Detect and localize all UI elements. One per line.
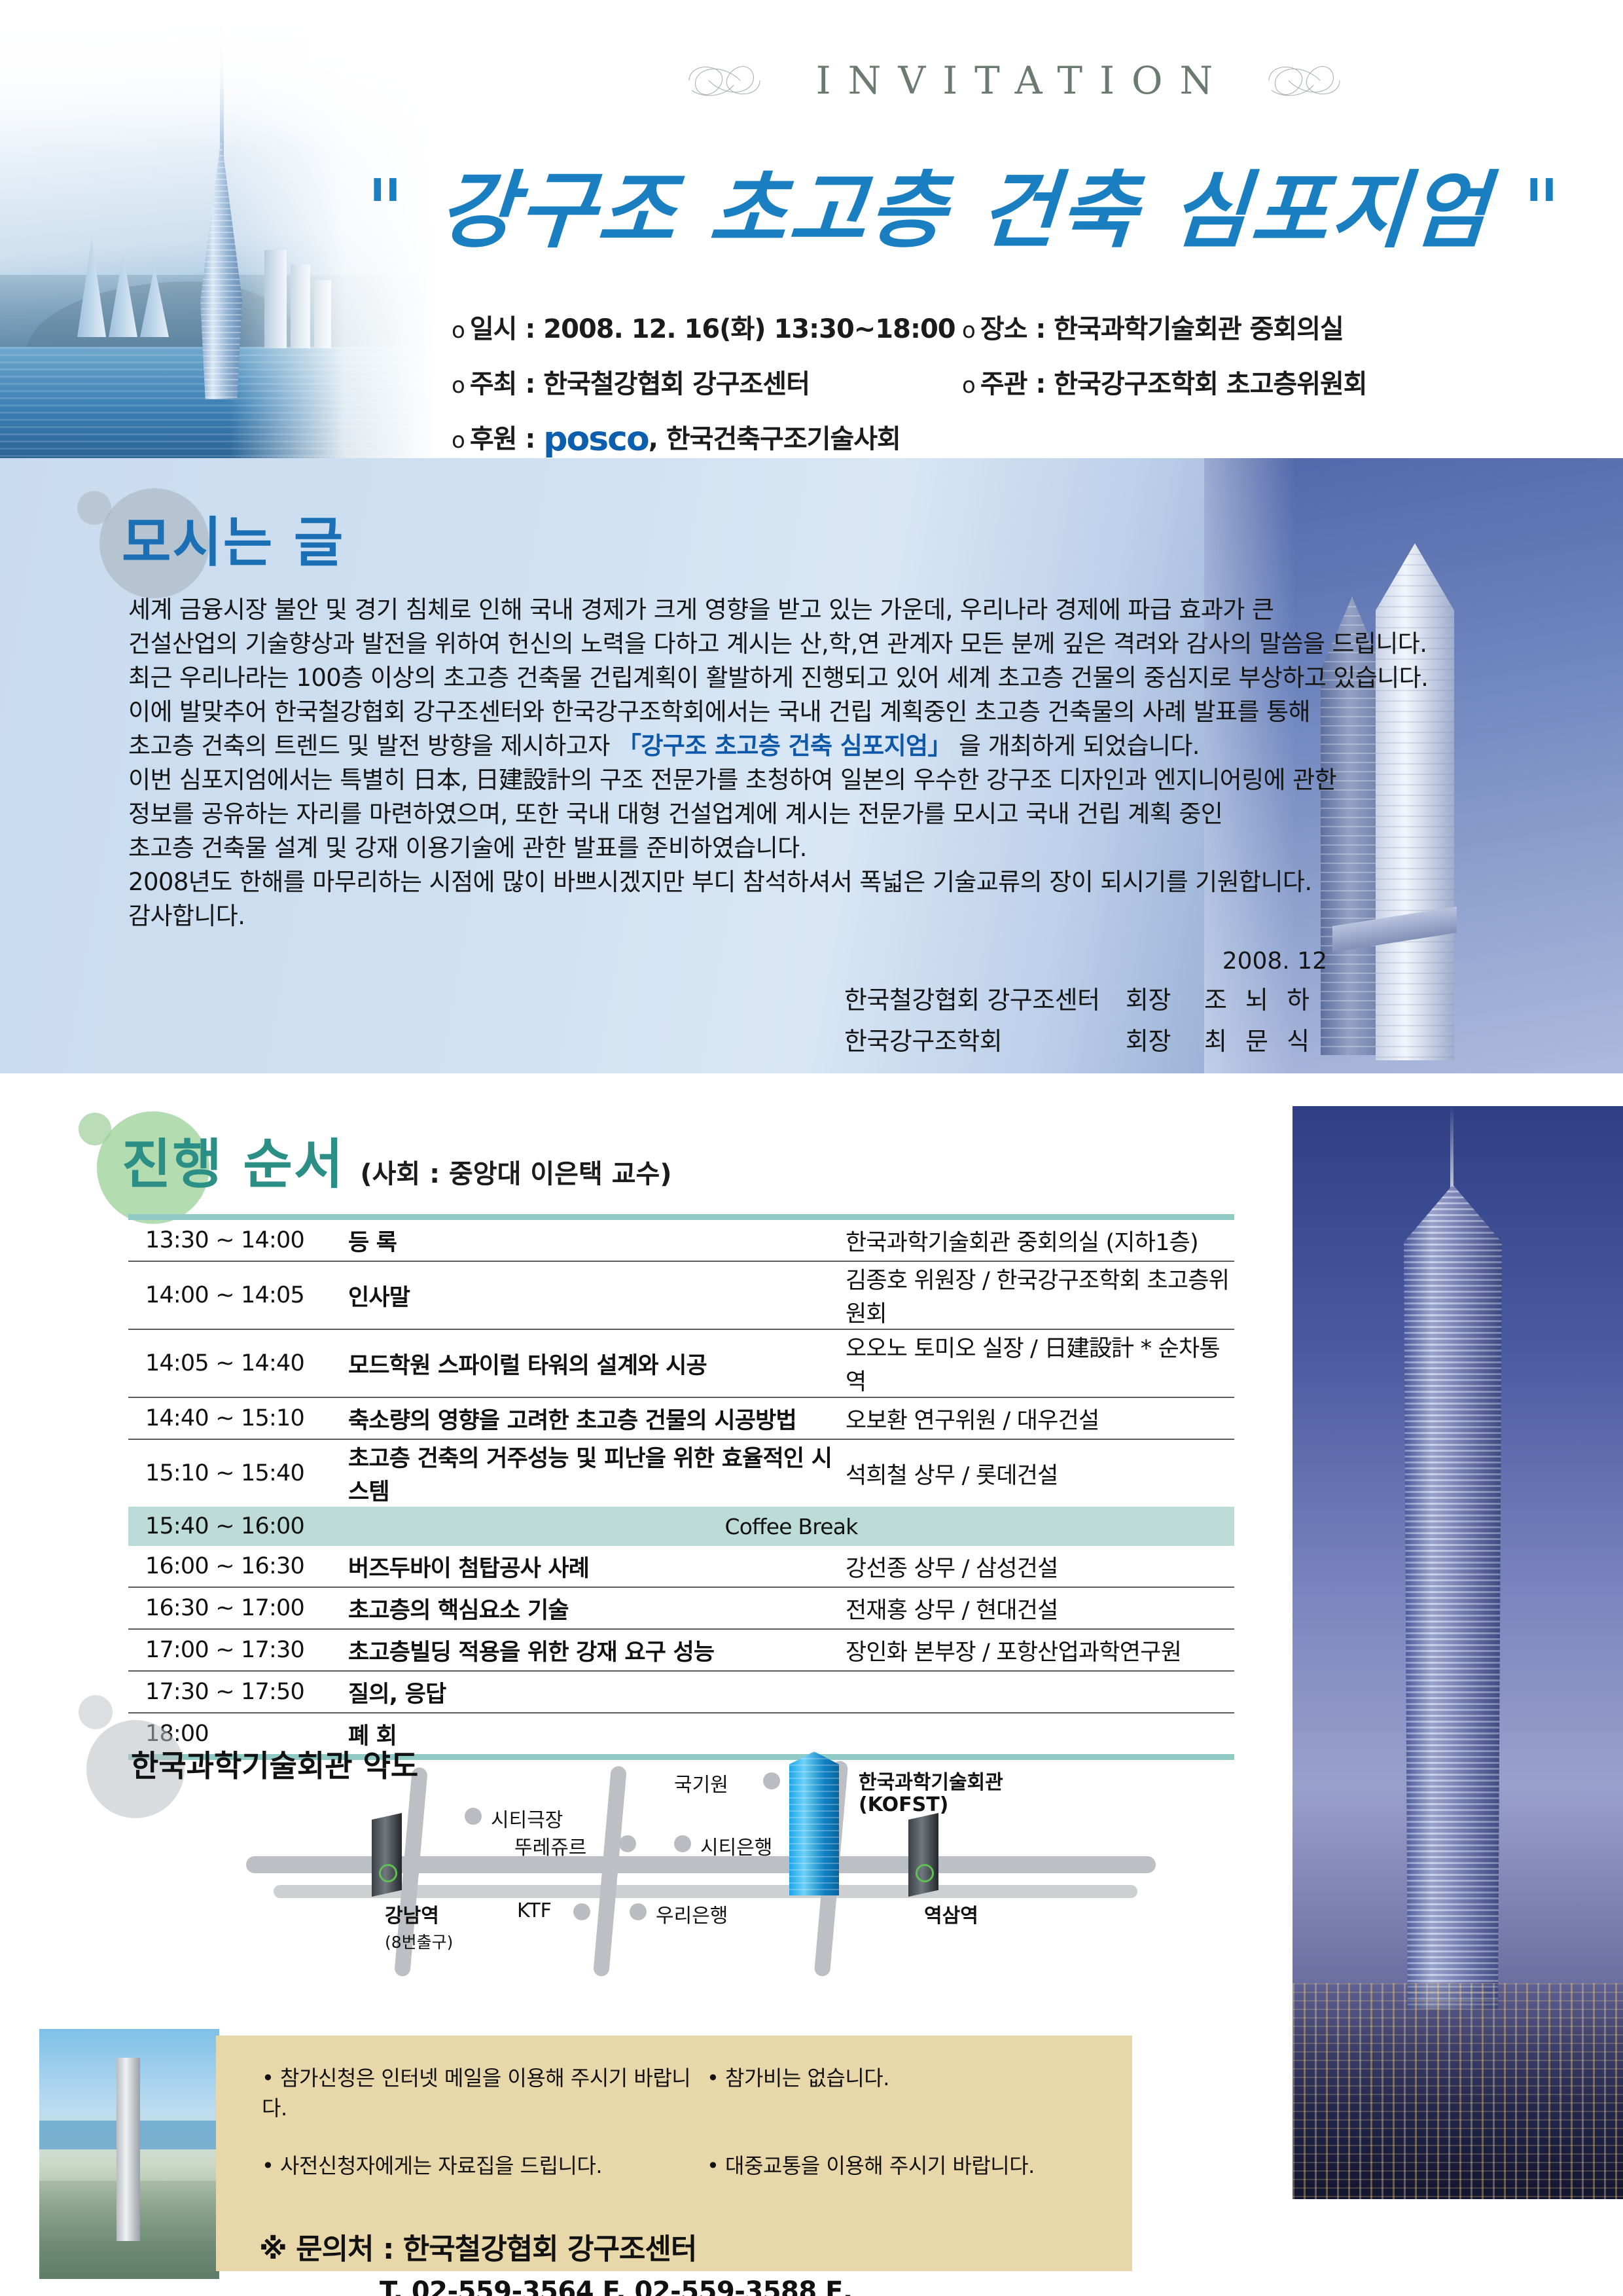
table-row-break: 15:40 ~ 16:00 Coffee Break (128, 1507, 1234, 1546)
footer-thumbnail-image (39, 2029, 219, 2279)
row-time: 15:10 ~ 15:40 (128, 1439, 348, 1507)
row-speaker: 김종호 위원장 / 한국강구조학회 초고층위원회 (846, 1261, 1234, 1329)
map-label-gukgiwon: 국기원 (674, 1768, 728, 1797)
info-item-organizer: o주관 : 한국강구조학회 초고층위원회 (962, 363, 1525, 401)
row-topic: 등 록 (348, 1217, 846, 1262)
map-venue-name: 한국과학기술회관 (859, 1766, 1003, 1795)
row-speaker: 한국과학기술회관 중회의실 (지하1층) (846, 1217, 1234, 1262)
map-dot-decoration (79, 1695, 113, 1729)
kofst-building-icon (789, 1751, 839, 1895)
row-topic: 축소량의 영향을 고려한 초고층 건물의 시공방법 (348, 1397, 846, 1439)
greeting-line-highlighted: 초고층 건축의 트렌드 및 발전 방향을 제시하고자 「강구조 초고층 건축 심… (128, 729, 1241, 763)
info-value: 한국강구조학회 초고층위원회 (1054, 369, 1366, 399)
invitation-banner: INVITATION (406, 56, 1623, 107)
contact-details: T. 02-559-3564 F. 02-559-3588 E. lim2446… (380, 2276, 1132, 2296)
info-label: 장소 (980, 314, 1027, 344)
footer-notes-list: 참가신청은 인터넷 메일을 이용해 주시기 바랍니다. 참가비는 없습니다. 사… (262, 2062, 1113, 2179)
night-tower (1404, 1185, 1502, 2009)
greeting-line: 감사합니다. (128, 899, 1241, 933)
map-label-woori: 우리은행 (656, 1899, 728, 1928)
row-topic: Coffee Break (348, 1507, 1234, 1546)
venue-map: 한국과학기술회관 약도 한국과학기술회관 (KOFST) 국기원 시티극장 뚜레… (98, 1689, 1250, 1977)
list-item: 사전신청자에게는 자료집을 드립니다. (262, 2149, 707, 2179)
map-dot-tous (619, 1835, 636, 1852)
greeting-line: 이번 심포지엄에서는 특별히 日本, 日建設計의 구조 전문가를 초청하여 일본… (128, 763, 1241, 797)
map-title: 한국과학기술회관 약도 (131, 1742, 418, 1785)
schedule-moderator: (사회 : 중앙대 이은택 교수) (360, 1153, 671, 1191)
row-time: 16:30 ~ 17:00 (128, 1587, 348, 1629)
greeting-line: 2008년도 한해를 마무리하는 시점에 많이 바쁘시겠지만 부디 참석하셔서 … (128, 865, 1241, 899)
signature-row: 한국강구조학회 회장 최 문 식 (844, 1021, 1342, 1057)
info-label: 주최 (470, 369, 517, 399)
poster-root: INVITATION " 강구조 초고층 건축 심포지엄 " o일시 : 200… (0, 0, 1623, 2296)
map-label-citibank: 시티은행 (700, 1831, 772, 1860)
info-marker: o (962, 317, 975, 344)
info-item-sponsor: o후원 : posco, 한국건축구조기술사회 (452, 418, 962, 458)
map-dot-ktf (573, 1903, 590, 1920)
info-value: 한국과학기술회관 중회의실 (1054, 314, 1344, 344)
invitation-label: INVITATION (799, 58, 1230, 103)
map-label-city-theater: 시티극장 (491, 1804, 563, 1833)
posco-logo: posco (543, 420, 648, 458)
info-marker: o (452, 372, 465, 399)
schedule-table-body: 13:30 ~ 14:00 등 록 한국과학기술회관 중회의실 (지하1층) 1… (128, 1217, 1234, 1757)
greeting-line: 건설산업의 기술향상과 발전을 위하여 헌신의 노력을 다하고 계시는 산,학,… (128, 627, 1241, 661)
metro-entrance-yeoksam-icon (908, 1813, 938, 1897)
row-speaker: 오오노 토미오 실장 / 日建設計 * 순차통역 (846, 1329, 1234, 1397)
list-item: 참가비는 없습니다. (707, 2062, 1113, 2122)
info-value: 2008. 12. 16(화) 13:30~18:00 (543, 314, 955, 344)
info-value: 한국철강협회 강구조센터 (543, 369, 810, 399)
symposium-title-highlight: 「강구조 초고층 건축 심포지엄」 (617, 732, 952, 760)
signature-row: 한국철강협회 강구조센터 회장 조 뇌 하 (844, 980, 1342, 1016)
map-dot-woori (630, 1903, 647, 1920)
title-quote-open: " (366, 162, 407, 260)
row-topic: 초고층빌딩 적용을 위한 강재 요구 성능 (348, 1629, 846, 1671)
greeting-line: 세계 금융시장 불안 및 경기 침체로 인해 국내 경제가 크게 영향을 받고 … (128, 593, 1241, 627)
schedule-heading-group: 진행 순서 (사회 : 중앙대 이은택 교수) (122, 1121, 672, 1198)
schedule-heading: 진행 순서 (122, 1121, 344, 1198)
map-label-gangnam: 강남역 (385, 1899, 439, 1928)
info-value: , 한국건축구조기술사회 (649, 424, 901, 454)
info-label: 주관 (980, 369, 1027, 399)
list-item: 대중교통을 이용해 주시기 바랍니다. (707, 2149, 1113, 2179)
row-topic: 초고층 건축의 거주성능 및 피난을 위한 효율적인 시스템 (348, 1439, 846, 1507)
row-speaker: 전재홍 상무 / 현대건설 (846, 1587, 1234, 1629)
contact-heading: ※ 문의처 : 한국철강협회 강구조센터 (259, 2225, 696, 2267)
greeting-line-part-a: 초고층 건축의 트렌드 및 발전 방향을 제시하고자 (128, 732, 617, 760)
night-tower-image (1293, 1106, 1623, 2199)
row-topic: 버즈두바이 첨탑공사 사례 (348, 1546, 846, 1587)
greeting-line: 초고층 건축물 설계 및 강재 이용기술에 관한 발표를 준비하였습니다. (128, 831, 1241, 865)
row-topic: 인사말 (348, 1261, 846, 1329)
signature-org: 한국강구조학회 (844, 1021, 1126, 1057)
map-dot-citibank (674, 1835, 691, 1852)
row-time: 15:40 ~ 16:00 (128, 1507, 348, 1546)
greeting-line: 최근 우리나라는 100층 이상의 초고층 건축물 건립계획이 활발하게 진행되… (128, 661, 1241, 695)
greeting-heading: 모시는 글 (122, 499, 344, 577)
twin-tower-right (1376, 543, 1454, 1060)
table-row: 14:00 ~ 14:05 인사말 김종호 위원장 / 한국강구조학회 초고층위… (128, 1261, 1234, 1329)
table-row: 15:10 ~ 15:40 초고층 건축의 거주성능 및 피난을 위한 효율적인… (128, 1439, 1234, 1507)
greeting-line: 이에 발맞추어 한국철강협회 강구조센터와 한국강구조학회에서는 국내 건립 계… (128, 695, 1241, 729)
row-speaker: 오보환 연구위원 / 대우건설 (846, 1397, 1234, 1439)
table-row: 16:00 ~ 16:30 버즈두바이 첨탑공사 사례 강선종 상무 / 삼성건… (128, 1546, 1234, 1587)
row-time: 14:05 ~ 14:40 (128, 1329, 348, 1397)
flourish-left-icon (685, 56, 764, 105)
table-row: 14:05 ~ 14:40 모드학원 스파이럴 타워의 설계와 시공 오오노 토… (128, 1329, 1234, 1397)
signature-role: 회장 (1126, 980, 1204, 1016)
info-item-host: o주최 : 한국철강협회 강구조센터 (452, 363, 962, 401)
row-topic: 초고층의 핵심요소 기술 (348, 1587, 846, 1629)
list-item: 참가신청은 인터넷 메일을 이용해 주시기 바랍니다. (262, 2062, 707, 2122)
header-section: INVITATION " 강구조 초고층 건축 심포지엄 " o일시 : 200… (0, 0, 1623, 458)
page-title: " 강구조 초고층 건축 심포지엄 " (363, 143, 1549, 264)
signature-name: 최 문 식 (1204, 1021, 1315, 1057)
row-topic: 모드학원 스파이럴 타워의 설계와 시공 (348, 1329, 846, 1397)
night-cityscape (1293, 1983, 1623, 2199)
table-row: 13:30 ~ 14:00 등 록 한국과학기술회관 중회의실 (지하1층) (128, 1217, 1234, 1262)
row-time: 17:00 ~ 17:30 (128, 1629, 348, 1671)
title-quote-close: " (1522, 162, 1563, 260)
row-speaker: 석희철 상무 / 롯데건설 (846, 1439, 1234, 1507)
map-dot-gukgiwon (763, 1772, 780, 1789)
info-item-date: o일시 : 2008. 12. 16(화) 13:30~18:00 (452, 308, 962, 346)
info-marker: o (962, 372, 975, 399)
map-dot-city-theater (465, 1808, 482, 1825)
map-label-tous: 뚜레쥬르 (514, 1831, 586, 1860)
map-label-ktf: KTF (517, 1899, 552, 1922)
metro-entrance-gangnam-icon (372, 1813, 402, 1897)
flourish-right-icon (1265, 56, 1344, 105)
signature-block: 2008. 12 한국철강협회 강구조센터 회장 조 뇌 하 한국강구조학회 회… (844, 948, 1342, 1057)
row-speaker: 장인화 본부장 / 포항산업과학연구원 (846, 1629, 1234, 1671)
greeting-line: 정보를 공유하는 자리를 마련하였으며, 또한 국내 대형 건설업계에 계시는 … (128, 797, 1241, 831)
signature-role: 회장 (1126, 1021, 1204, 1057)
row-time: 14:00 ~ 14:05 (128, 1261, 348, 1329)
signature-org: 한국철강협회 강구조센터 (844, 980, 1126, 1016)
row-time: 14:40 ~ 15:10 (128, 1397, 348, 1439)
info-label: 후원 (470, 424, 517, 454)
map-label-yeoksam: 역삼역 (924, 1899, 978, 1928)
table-row: 17:00 ~ 17:30 초고층빌딩 적용을 위한 강재 요구 성능 장인화 … (128, 1629, 1234, 1671)
map-venue-sub: (KOFST) (859, 1793, 948, 1816)
table-row: 16:30 ~ 17:00 초고층의 핵심요소 기술 전재홍 상무 / 현대건설 (128, 1587, 1234, 1629)
greeting-line-part-b: 을 개최하게 되었습니다. (952, 732, 1200, 760)
thumb-tower (116, 2058, 140, 2241)
info-marker: o (452, 317, 465, 344)
info-marker: o (452, 427, 465, 454)
schedule-table: 13:30 ~ 14:00 등 록 한국과학기술회관 중회의실 (지하1층) 1… (128, 1214, 1234, 1760)
signature-name: 조 뇌 하 (1204, 980, 1315, 1016)
title-text: 강구조 초고층 건축 심포지엄 (435, 162, 1493, 260)
info-item-venue: o장소 : 한국과학기술회관 중회의실 (962, 308, 1525, 346)
info-label: 일시 (470, 314, 517, 344)
greeting-heading-group: 모시는 글 (122, 499, 344, 577)
greeting-body: 세계 금융시장 불안 및 경기 침체로 인해 국내 경제가 크게 영향을 받고 … (128, 593, 1241, 933)
footer-info-box: 참가신청은 인터넷 메일을 이용해 주시기 바랍니다. 참가비는 없습니다. 사… (216, 2036, 1132, 2271)
map-label-gangnam-exit: (8번출구) (385, 1929, 453, 1953)
event-info-block: o일시 : 2008. 12. 16(화) 13:30~18:00 o장소 : … (452, 308, 1525, 458)
table-row: 14:40 ~ 15:10 축소량의 영향을 고려한 초고층 건물의 시공방법 … (128, 1397, 1234, 1439)
row-time: 13:30 ~ 14:00 (128, 1217, 348, 1262)
row-time: 16:00 ~ 16:30 (128, 1546, 348, 1587)
row-speaker: 강선종 상무 / 삼성건설 (846, 1546, 1234, 1587)
signature-date: 2008. 12 (844, 948, 1342, 975)
